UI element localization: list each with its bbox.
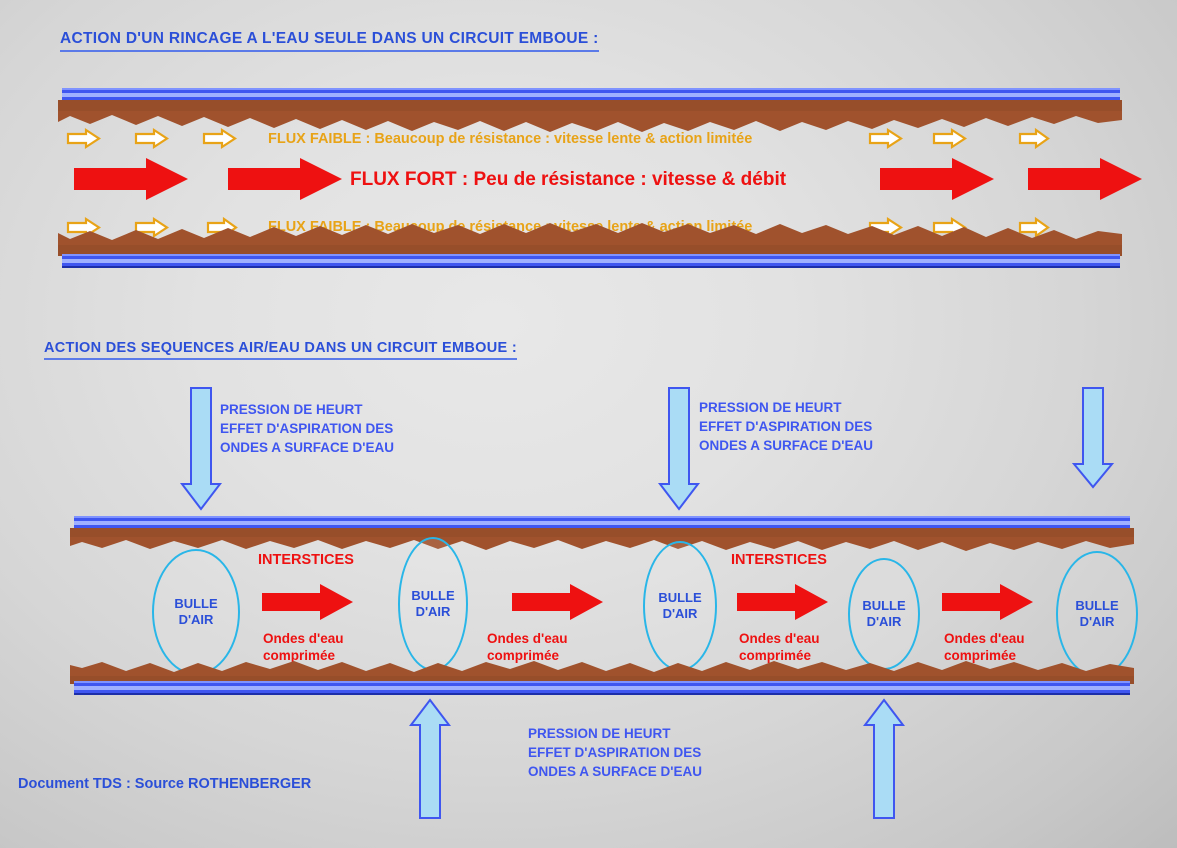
- water-up-arrow-1: [411, 700, 449, 818]
- pressure-label-2-line2: EFFET D'ASPIRATION DES: [699, 417, 873, 436]
- source-credit: Document TDS : Source ROTHENBERGER: [18, 776, 311, 792]
- compressed-water-arrow-3: [737, 584, 829, 620]
- air-bubble-3-text: BULLE D'AIR: [658, 590, 701, 622]
- pressure-label-1-line1: PRESSION DE HEURT: [220, 400, 394, 419]
- weak-flow-arrow-group-top-left: [66, 129, 256, 149]
- air-bubble-5-text: BULLE D'AIR: [1075, 598, 1118, 630]
- pressure-label-1-line2: EFFET D'ASPIRATION DES: [220, 419, 394, 438]
- weak-flow-arrow-group-top-right: [868, 129, 1068, 149]
- pressure-label-3-line3: ONDES A SURFACE D'EAU: [528, 762, 702, 781]
- pipe-wall-bottom-2: [74, 681, 1130, 695]
- strong-flow-arrow-1: [74, 158, 189, 200]
- section-title-airwater: ACTION DES SEQUENCES AIR/EAU DANS UN CIR…: [44, 340, 517, 360]
- water-down-arrow-2: [660, 388, 698, 510]
- pipe-wall-bottom-1: [62, 254, 1120, 268]
- pressure-label-2-line1: PRESSION DE HEURT: [699, 398, 873, 417]
- pressure-label-1-line3: ONDES A SURFACE D'EAU: [220, 438, 394, 457]
- label-flux-fort: FLUX FORT : Peu de résistance : vitesse …: [350, 169, 786, 191]
- pressure-label-2-line3: ONDES A SURFACE D'EAU: [699, 436, 873, 455]
- sludge-deposit-bottom-2: [70, 650, 1134, 684]
- air-bubble-2-line2: D'AIR: [416, 604, 451, 619]
- interstices-label-2: INTERSTICES: [731, 552, 827, 568]
- compressed-water-arrow-4: [942, 584, 1034, 620]
- water-down-arrow-1: [182, 388, 220, 510]
- pressure-label-2: PRESSION DE HEURT EFFET D'ASPIRATION DES…: [699, 398, 873, 455]
- pressure-label-3: PRESSION DE HEURT EFFET D'ASPIRATION DES…: [528, 724, 702, 781]
- compressed-water-arrow-1: [262, 584, 354, 620]
- pipe-wall-highlight: [74, 686, 1130, 690]
- strong-flow-arrow-2: [228, 158, 343, 200]
- wave-label-1-line1: Ondes d'eau: [263, 630, 343, 647]
- air-bubble-2-line1: BULLE: [411, 588, 454, 603]
- section-title-rinse: ACTION D'UN RINCAGE A L'EAU SEULE DANS U…: [60, 30, 599, 52]
- strong-flow-arrow-3: [880, 158, 995, 200]
- air-bubble-3-line2: D'AIR: [663, 606, 698, 621]
- interstices-label-1: INTERSTICES: [258, 552, 354, 568]
- sludge-deposit-bottom-1: [58, 212, 1122, 256]
- diagram-canvas: ACTION D'UN RINCAGE A L'EAU SEULE DANS U…: [0, 0, 1177, 848]
- air-bubble-3-line1: BULLE: [658, 590, 701, 605]
- air-bubble-2-text: BULLE D'AIR: [411, 588, 454, 620]
- air-bubble-4-line1: BULLE: [862, 598, 905, 613]
- water-down-arrow-3: [1074, 388, 1112, 488]
- air-bubble-5-line2: D'AIR: [1080, 614, 1115, 629]
- compressed-water-arrow-2: [512, 584, 604, 620]
- air-bubble-4-line2: D'AIR: [867, 614, 902, 629]
- pressure-label-1: PRESSION DE HEURT EFFET D'ASPIRATION DES…: [220, 400, 394, 457]
- wave-label-2-line1: Ondes d'eau: [487, 630, 567, 647]
- label-flux-faible-top: FLUX FAIBLE : Beaucoup de résistance : v…: [268, 131, 752, 147]
- air-bubble-1-line2: D'AIR: [179, 612, 214, 627]
- wave-label-3-line1: Ondes d'eau: [739, 630, 819, 647]
- pipe-wall-highlight: [62, 93, 1120, 97]
- pressure-label-3-line2: EFFET D'ASPIRATION DES: [528, 743, 702, 762]
- pressure-label-3-line1: PRESSION DE HEURT: [528, 724, 702, 743]
- pipe-wall-highlight: [74, 521, 1130, 525]
- air-bubble-1-text: BULLE D'AIR: [174, 596, 217, 628]
- strong-flow-arrow-4: [1028, 158, 1143, 200]
- pipe-wall-highlight: [62, 259, 1120, 263]
- sludge-deposit-top-2: [70, 528, 1134, 558]
- wave-label-4-line1: Ondes d'eau: [944, 630, 1024, 647]
- air-bubble-4-text: BULLE D'AIR: [862, 598, 905, 630]
- water-up-arrow-2: [865, 700, 903, 818]
- air-bubble-1-line1: BULLE: [174, 596, 217, 611]
- air-bubble-5-line1: BULLE: [1075, 598, 1118, 613]
